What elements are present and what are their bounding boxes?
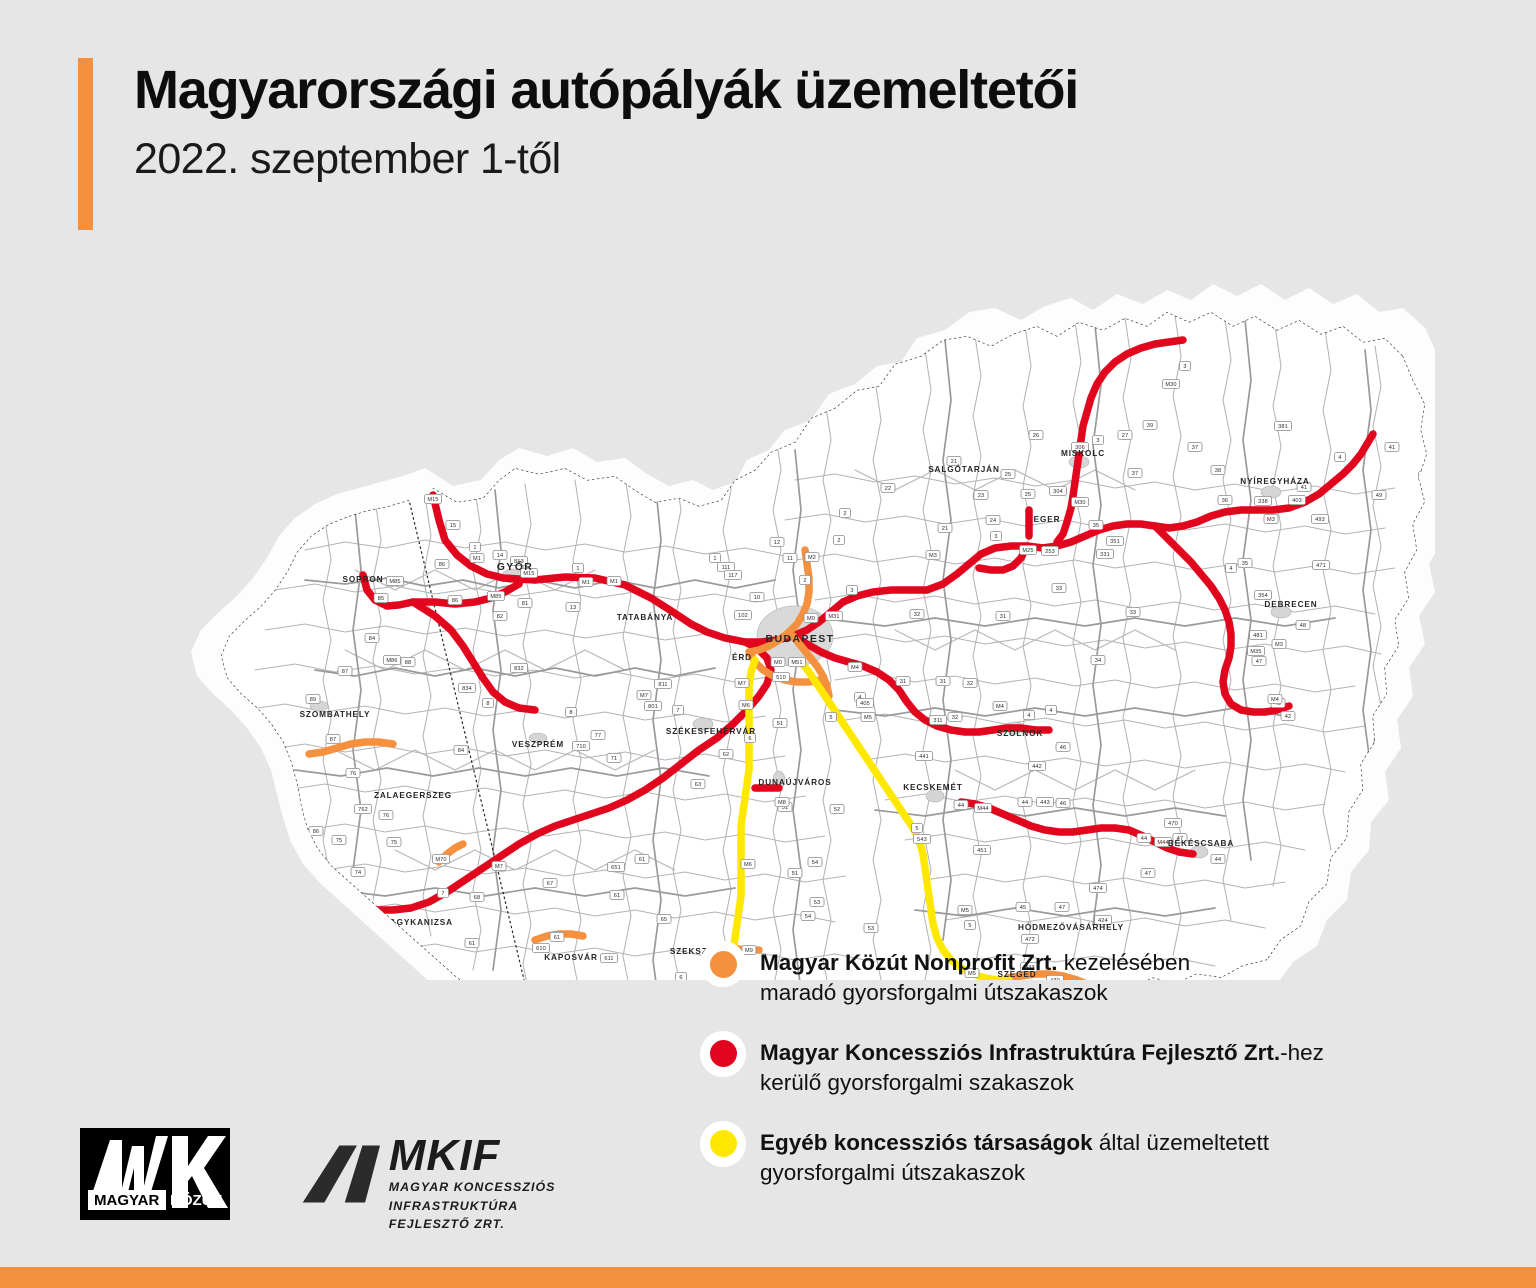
svg-text:351: 351: [1110, 539, 1120, 545]
svg-text:6: 6: [679, 975, 682, 980]
city-label: SALGÓTARJÁN: [928, 463, 1000, 474]
legend-text-kozut: Magyar Közút Nonprofit Zrt. kezelésében …: [760, 945, 1190, 1008]
svg-text:3: 3: [850, 588, 853, 594]
road-shield: M0: [771, 657, 785, 666]
svg-text:4: 4: [1338, 455, 1341, 461]
svg-text:M85: M85: [389, 579, 400, 585]
legend-item-mkif: Magyar Koncessziós Infrastruktúra Fejles…: [700, 1035, 1490, 1098]
svg-text:13: 13: [570, 605, 576, 611]
svg-text:41: 41: [1389, 445, 1395, 451]
svg-text:33: 33: [1130, 610, 1136, 616]
page-title: Magyarországi autópályák üzemeltetői: [134, 62, 1078, 119]
svg-text:65: 65: [661, 917, 667, 923]
road-shield: 25: [1001, 469, 1015, 478]
svg-text:47: 47: [1145, 871, 1151, 877]
road-shield: M7: [735, 678, 749, 687]
road-shield: 5: [965, 920, 976, 929]
svg-text:86: 86: [452, 598, 458, 604]
svg-text:M35: M35: [1250, 649, 1261, 655]
mk-word1: MAGYAR: [94, 1192, 159, 1209]
svg-text:610: 610: [536, 946, 546, 952]
road-shield: 474: [1090, 883, 1107, 892]
road-shield: M51: [789, 657, 806, 666]
road-shield: 41: [1385, 442, 1399, 451]
road-shield: M8: [775, 797, 789, 806]
road-shield: 86: [435, 559, 449, 568]
svg-text:M15: M15: [427, 497, 438, 503]
svg-text:451: 451: [977, 848, 987, 854]
svg-text:M3: M3: [1275, 642, 1283, 648]
road-shield: 84: [454, 745, 468, 754]
road-shield: M1: [470, 553, 484, 562]
road-shield: 65: [657, 914, 671, 923]
svg-text:481: 481: [1253, 633, 1263, 639]
svg-text:651: 651: [611, 865, 621, 871]
svg-text:4: 4: [1229, 566, 1232, 572]
road-shield: M70: [433, 854, 450, 863]
svg-text:1: 1: [713, 556, 716, 562]
road-shield: 37: [1128, 468, 1142, 477]
road-shield: 27: [1118, 430, 1132, 439]
road-shield: 61: [465, 938, 479, 947]
road-shield: 811: [655, 679, 672, 688]
road-shield: M1: [579, 577, 593, 586]
road-shield: 117: [725, 570, 742, 579]
road-shield: 8: [566, 707, 577, 716]
bottom-accent-bar: [0, 1267, 1536, 1288]
road-shield: 510: [773, 672, 790, 681]
road-shield: M31: [826, 611, 843, 620]
svg-text:76: 76: [350, 771, 356, 777]
road-shield: M4: [993, 701, 1007, 710]
road-shield: 13: [566, 602, 580, 611]
svg-text:32: 32: [952, 715, 958, 721]
road-shield: 36: [1218, 495, 1232, 504]
road-shield: M1: [607, 576, 621, 585]
road-shield: 71: [607, 753, 621, 762]
svg-text:311: 311: [933, 718, 942, 724]
road-shield: 47: [1141, 868, 1155, 877]
svg-text:42: 42: [1285, 714, 1291, 720]
city-label: SZOLNOK: [997, 729, 1043, 738]
svg-text:27: 27: [1122, 433, 1128, 439]
road-shield: 86: [309, 826, 323, 835]
road-shield: 62: [719, 749, 733, 758]
road-shield: 253: [1042, 546, 1059, 555]
svg-text:32: 32: [967, 681, 973, 687]
svg-text:87: 87: [330, 737, 336, 743]
city-label: KECSKEMÉT: [903, 782, 963, 792]
road-shield: 44: [1137, 833, 1151, 842]
road-shield: 405: [857, 698, 874, 707]
road-shield: 39: [1143, 420, 1157, 429]
svg-text:51: 51: [792, 871, 798, 877]
svg-text:34: 34: [1095, 658, 1101, 664]
city-label: SZOMBATHELY: [300, 710, 371, 719]
road-shield: 2: [840, 508, 851, 517]
svg-text:46: 46: [1060, 801, 1066, 807]
road-shield: 24: [986, 515, 1000, 524]
road-shield: 81: [518, 598, 532, 607]
road-shield: 1: [573, 563, 584, 572]
road-shield: 26: [1029, 430, 1043, 439]
svg-text:31: 31: [1000, 614, 1006, 620]
svg-text:117: 117: [728, 573, 737, 579]
svg-text:354: 354: [1258, 593, 1268, 599]
svg-text:49: 49: [1376, 493, 1382, 499]
svg-text:M1: M1: [610, 579, 618, 585]
svg-text:63: 63: [695, 782, 701, 788]
svg-text:5: 5: [968, 923, 971, 929]
road-shield: 74: [351, 867, 365, 876]
svg-text:M70: M70: [310, 904, 321, 910]
road-shield: 442: [1029, 761, 1046, 770]
road-shield: 5: [826, 712, 837, 721]
svg-text:76: 76: [383, 813, 389, 819]
road-shield: 31: [996, 611, 1010, 620]
svg-text:44: 44: [958, 803, 964, 809]
road-shield: M85: [488, 591, 505, 600]
svg-text:442: 442: [1032, 764, 1042, 770]
road-shield: M30: [1163, 379, 1180, 388]
road-shield: 4: [1226, 563, 1237, 572]
road-shield: 2: [834, 535, 845, 544]
map-svg: M15151M18614813M151M1M8585M8586M11381828…: [95, 150, 1435, 980]
road-shield: 87: [326, 734, 340, 743]
road-shield: 14: [493, 550, 507, 559]
svg-text:11: 11: [787, 556, 793, 562]
svg-text:35: 35: [1242, 561, 1248, 567]
svg-text:81: 81: [522, 601, 528, 607]
road-shield: 651: [608, 862, 625, 871]
svg-text:37: 37: [1132, 471, 1138, 477]
magyar-kozut-logo: MAGYAR KÖZÚT: [80, 1128, 230, 1225]
road-shield: M4: [1268, 694, 1282, 703]
road-shield: 87: [338, 666, 352, 675]
city-label: TATABÁNYA: [617, 612, 673, 622]
mk-word2: KÖZÚT: [170, 1191, 222, 1209]
svg-text:84: 84: [369, 636, 375, 642]
road-shield: 1: [470, 542, 481, 551]
road-shield: 493: [1312, 514, 1329, 523]
svg-text:M6: M6: [742, 703, 750, 709]
legend-rest-1: -hez: [1280, 1040, 1324, 1065]
city-label: BUDAPEST: [766, 633, 835, 645]
road-shield: 86: [448, 595, 462, 604]
svg-text:44: 44: [1022, 800, 1028, 806]
city-label: ZALAEGERSZEG: [374, 791, 452, 800]
svg-text:405: 405: [860, 701, 870, 707]
svg-text:46: 46: [1060, 745, 1066, 751]
svg-text:53: 53: [814, 900, 820, 906]
svg-text:471: 471: [1316, 563, 1326, 569]
road-shield: 331: [1097, 549, 1114, 558]
svg-text:61: 61: [469, 941, 475, 947]
road-shield: 3: [847, 585, 858, 594]
svg-text:801: 801: [648, 704, 658, 710]
svg-text:37: 37: [1192, 445, 1198, 451]
road-shield: M7: [637, 690, 651, 699]
road-shield: 710: [573, 741, 590, 750]
road-shield: 54: [808, 857, 822, 866]
road-shield: M4: [848, 662, 862, 671]
svg-text:38: 38: [1215, 468, 1221, 474]
svg-text:2: 2: [803, 578, 806, 584]
svg-text:32: 32: [914, 612, 920, 618]
road-shield: 543: [914, 834, 931, 843]
city-label: VESZPRÉM: [512, 739, 564, 749]
legend-line2-1: kerülő gyorsforgalmi szakaszok: [760, 1070, 1074, 1095]
svg-text:14: 14: [497, 553, 503, 559]
svg-text:75: 75: [336, 838, 342, 844]
svg-text:832: 832: [514, 666, 524, 672]
svg-text:M4: M4: [1271, 697, 1279, 703]
svg-text:23: 23: [978, 493, 984, 499]
svg-text:67: 67: [547, 881, 553, 887]
road-shield: 53: [810, 897, 824, 906]
road-shield: 311: [930, 715, 947, 724]
legend-text-mkif: Magyar Koncessziós Infrastruktúra Fejles…: [760, 1035, 1324, 1098]
svg-text:338: 338: [1258, 499, 1268, 505]
road-shield: 354: [1255, 590, 1272, 599]
road-shield: 10: [750, 592, 764, 601]
svg-text:510: 510: [776, 675, 786, 681]
svg-text:8: 8: [486, 701, 489, 707]
svg-text:5: 5: [915, 826, 918, 832]
road-shield: 351: [1107, 536, 1124, 545]
svg-text:25: 25: [1025, 492, 1031, 498]
road-shield: 32: [910, 609, 924, 618]
road-shield: 832: [511, 663, 528, 672]
svg-text:381: 381: [1278, 424, 1288, 430]
road-shield: 7: [673, 705, 684, 714]
svg-text:1: 1: [473, 545, 476, 551]
svg-text:M3: M3: [929, 553, 937, 559]
road-shield: 42: [1281, 711, 1295, 720]
road-shield: M5: [861, 712, 875, 721]
road-shield: M0: [804, 613, 818, 622]
road-shield: M70: [308, 901, 325, 910]
road-shield: 23: [974, 490, 988, 499]
legend-bold-0: Magyar Közút Nonprofit Zrt.: [760, 950, 1057, 975]
svg-text:3: 3: [994, 534, 997, 540]
road-shield: 44: [954, 800, 968, 809]
yellow-dot-icon: [700, 1121, 746, 1167]
red-dot-icon: [700, 1031, 746, 1077]
svg-text:53: 53: [868, 926, 874, 932]
svg-text:82: 82: [497, 614, 503, 620]
road-shield: 610: [533, 943, 550, 952]
svg-text:6: 6: [748, 736, 751, 742]
svg-text:253: 253: [1045, 549, 1055, 555]
road-shield: 4: [1046, 705, 1057, 714]
road-shield: 37: [1188, 442, 1202, 451]
hungary-highway-map: M15151M18614813M151M1M8585M8586M11381828…: [95, 150, 1435, 980]
svg-text:762: 762: [358, 807, 368, 813]
svg-text:M30: M30: [1165, 382, 1176, 388]
svg-text:4: 4: [1049, 708, 1052, 714]
svg-text:443: 443: [1040, 800, 1050, 806]
road-shield: 3: [991, 531, 1002, 540]
mkif-name: MKIF: [389, 1134, 558, 1178]
road-shield: 75: [387, 837, 401, 846]
svg-text:M2: M2: [808, 555, 816, 561]
svg-text:M51: M51: [791, 660, 802, 666]
road-shield: M6: [741, 859, 755, 868]
svg-text:8: 8: [569, 710, 572, 716]
road-shield: 470: [1165, 818, 1182, 827]
svg-text:M0: M0: [807, 616, 815, 622]
svg-text:54: 54: [812, 860, 818, 866]
city-label: GYŐR: [497, 560, 534, 573]
city-label: MISKOLC: [1061, 449, 1105, 458]
svg-text:M44: M44: [977, 806, 988, 812]
svg-text:M7: M7: [738, 681, 746, 687]
road-shield: 47: [1055, 902, 1069, 911]
road-shield: 12: [770, 537, 784, 546]
legend-item-egyeb: Egyéb koncessziós társaságok által üzeme…: [700, 1125, 1490, 1188]
svg-text:51: 51: [777, 721, 783, 727]
svg-text:87: 87: [342, 669, 348, 675]
svg-text:M6: M6: [744, 862, 752, 868]
road-shield: 52: [830, 804, 844, 813]
road-shield: M30: [1072, 497, 1089, 506]
road-shield: 46: [1056, 742, 1070, 751]
road-shield: M6: [739, 700, 753, 709]
svg-text:31: 31: [900, 679, 906, 685]
svg-text:M4: M4: [996, 704, 1004, 710]
svg-text:84: 84: [458, 748, 464, 754]
road-shield: M7: [492, 861, 506, 870]
road-shield: M15: [425, 494, 442, 503]
road-shield: 63: [691, 779, 705, 788]
legend-text-egyeb: Egyéb koncessziós társaságok által üzeme…: [760, 1125, 1269, 1188]
svg-text:493: 493: [1315, 517, 1325, 523]
city-label: DUNAÚJVÁROS: [758, 776, 831, 787]
svg-text:89: 89: [310, 697, 316, 703]
road-shield: 33: [1052, 583, 1066, 592]
mkif-mark-icon: [300, 1130, 385, 1218]
road-shield: 304: [1050, 486, 1067, 495]
svg-text:25: 25: [1005, 472, 1011, 478]
road-shield: M86: [384, 655, 401, 664]
road-shield: 35: [1089, 520, 1103, 529]
svg-text:39: 39: [1147, 423, 1153, 429]
road-shield: 6: [676, 972, 687, 980]
svg-text:54: 54: [805, 914, 811, 920]
svg-text:M7: M7: [495, 864, 503, 870]
road-shield: 31: [896, 676, 910, 685]
svg-text:36: 36: [1222, 498, 1228, 504]
road-shield: 85: [374, 593, 388, 602]
road-shield: 82: [493, 611, 507, 620]
road-shield: 4: [1024, 710, 1035, 719]
road-shield: 61: [610, 890, 624, 899]
svg-text:77: 77: [595, 733, 601, 739]
road-shield: M3: [1272, 639, 1286, 648]
road-shield: M3: [926, 550, 940, 559]
road-shield: 834: [459, 683, 476, 692]
road-shield: 1: [710, 553, 721, 562]
svg-text:2: 2: [843, 511, 846, 517]
road-shield: 22: [881, 483, 895, 492]
orange-dot-icon: [700, 941, 746, 987]
svg-text:403: 403: [1292, 498, 1302, 504]
road-shield: 5: [912, 823, 923, 832]
legend: Magyar Közút Nonprofit Zrt. kezelésében …: [700, 945, 1490, 1215]
svg-text:M31: M31: [828, 614, 839, 620]
legend-bold-2: Egyéb koncessziós társaságok: [760, 1130, 1093, 1155]
road-shield: 32: [963, 678, 977, 687]
svg-text:85: 85: [378, 596, 384, 602]
road-shield: 471: [1313, 560, 1330, 569]
city-label: SZÉKESFEHÉRVÁR: [666, 726, 756, 736]
svg-text:61: 61: [614, 893, 620, 899]
svg-text:7: 7: [676, 708, 679, 714]
road-shield: 443: [1037, 797, 1054, 806]
road-shield: 35: [1238, 558, 1252, 567]
road-shield: 7: [438, 888, 449, 897]
svg-text:62: 62: [723, 752, 729, 758]
road-shield: 451: [974, 845, 991, 854]
road-shield: M25: [1020, 545, 1037, 554]
svg-text:10: 10: [754, 595, 760, 601]
svg-text:M8: M8: [778, 800, 786, 806]
road-shield: M3: [1264, 514, 1278, 523]
road-shield: 801: [645, 701, 662, 710]
road-shield: 67: [543, 878, 557, 887]
svg-text:75: 75: [391, 840, 397, 846]
svg-text:26: 26: [1033, 433, 1039, 439]
svg-text:61: 61: [639, 857, 645, 863]
svg-text:M4: M4: [851, 665, 859, 671]
svg-text:22: 22: [885, 486, 891, 492]
city-label: ÉRD: [732, 652, 752, 662]
road-shield: 762: [355, 804, 372, 813]
svg-text:102: 102: [738, 613, 748, 619]
svg-text:61: 61: [554, 935, 560, 941]
road-shield: M85: [387, 576, 404, 585]
svg-text:3: 3: [1096, 438, 1099, 444]
road-shield: 472: [1022, 934, 1039, 943]
svg-text:52: 52: [834, 807, 840, 813]
legend-item-kozut: Magyar Közút Nonprofit Zrt. kezelésében …: [700, 945, 1490, 1008]
legend-bold-1: Magyar Koncessziós Infrastruktúra Fejles…: [760, 1040, 1280, 1065]
svg-text:M7: M7: [640, 693, 648, 699]
svg-text:M25: M25: [1022, 548, 1033, 554]
svg-text:31: 31: [940, 679, 946, 685]
road-shield: 4: [1335, 452, 1346, 461]
svg-text:441: 441: [919, 754, 929, 760]
svg-text:304: 304: [1053, 489, 1063, 495]
svg-text:M0: M0: [774, 660, 782, 666]
svg-text:M5: M5: [864, 715, 872, 721]
road-shield: 381: [1275, 421, 1292, 430]
svg-text:41: 41: [1301, 485, 1307, 491]
city-label: SOPRON: [343, 575, 384, 584]
road-shield: 77: [591, 730, 605, 739]
svg-text:M86: M86: [386, 658, 397, 664]
svg-text:24: 24: [990, 518, 996, 524]
road-shield: 53: [864, 923, 878, 932]
road-shield: 31: [936, 676, 950, 685]
road-shield: 338: [1255, 496, 1272, 505]
svg-text:472: 472: [1025, 937, 1035, 943]
road-shield: 3: [1180, 361, 1191, 370]
road-shield: 11: [783, 553, 797, 562]
svg-text:2: 2: [837, 538, 840, 544]
svg-text:48: 48: [1300, 623, 1306, 629]
